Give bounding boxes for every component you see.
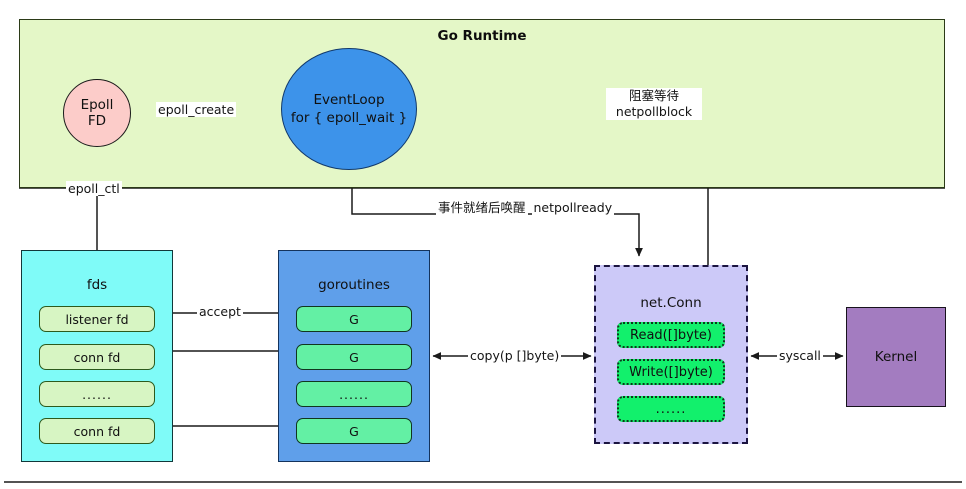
list-item[interactable]: Read([]byte) <box>617 322 725 348</box>
epoll-fd-node[interactable]: Epoll FD <box>63 79 131 147</box>
edge-label-netpollblock: 阻塞等待 netpollblock <box>606 88 702 120</box>
fds-title: fds <box>87 277 107 293</box>
edge-label-epoll-create: epoll_create <box>156 102 236 117</box>
edge-label-epoll-ctl: epoll_ctl <box>66 181 122 196</box>
edge-label-accept: accept <box>197 304 243 319</box>
list-item: ...... <box>39 381 155 407</box>
list-item[interactable]: conn fd <box>39 418 155 444</box>
edge-label-netpollblock-en: netpollblock <box>608 104 700 120</box>
diagram-canvas: Go Runtime Epoll FD EventLoop for { epol… <box>0 0 966 489</box>
goroutines-title: goroutines <box>318 277 390 293</box>
kernel-label: Kernel <box>875 349 917 365</box>
epoll-fd-label-line2: FD <box>88 113 106 129</box>
event-loop-label-line2: for { epoll_wait } <box>291 109 407 127</box>
net-conn-title: net.Conn <box>640 295 701 311</box>
net-conn-container: net.Conn Read([]byte) Write([]byte) ....… <box>594 265 748 444</box>
event-loop-label-line1: EventLoop <box>313 91 384 109</box>
list-item[interactable]: Write([]byte) <box>617 359 725 385</box>
list-item[interactable]: G <box>296 306 412 332</box>
goroutines-container: goroutines G G ...... G <box>278 250 430 462</box>
edge-label-syscall: syscall <box>777 348 823 363</box>
list-item: ...... <box>296 381 412 407</box>
event-loop-node[interactable]: EventLoop for { epoll_wait } <box>281 48 417 170</box>
list-item[interactable]: G <box>296 418 412 444</box>
edge-label-netpollready-cn: 事件就绪后唤醒 <box>436 200 528 216</box>
list-item[interactable]: listener fd <box>39 306 155 332</box>
edge-label-netpollready-en: netpollready <box>532 200 615 216</box>
epoll-fd-label-line1: Epoll <box>81 97 114 113</box>
list-item[interactable]: conn fd <box>39 344 155 370</box>
edge-label-copy: copy(p []byte) <box>468 348 561 363</box>
kernel-node[interactable]: Kernel <box>846 307 946 407</box>
edge-label-netpollready: 事件就绪后唤醒 netpollready <box>434 200 544 216</box>
edge-label-netpollblock-cn: 阻塞等待 <box>608 88 700 104</box>
fds-container: fds listener fd conn fd ...... conn fd <box>21 250 173 462</box>
go-runtime-title: Go Runtime <box>20 28 944 44</box>
list-item[interactable]: G <box>296 344 412 370</box>
list-item: ...... <box>617 396 725 422</box>
